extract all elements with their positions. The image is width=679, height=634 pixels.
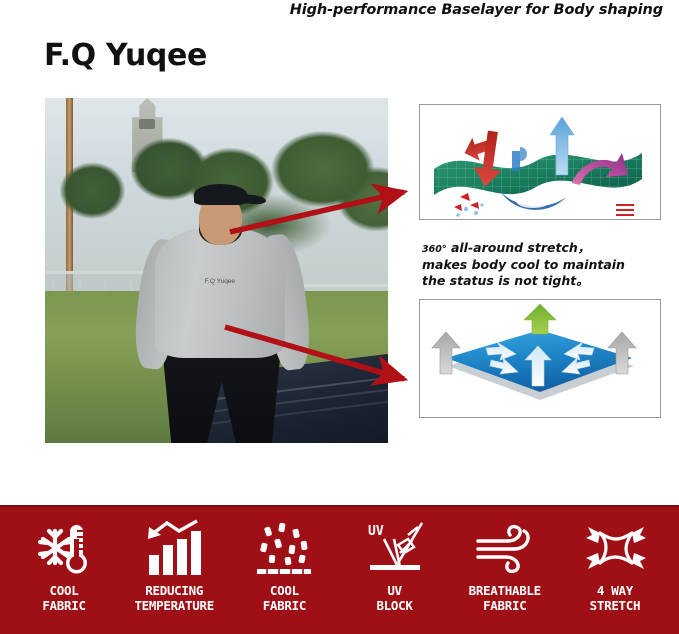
caption-line-1: all-around stretch， xyxy=(451,240,590,255)
brand-title: F.Q Yuqee xyxy=(44,38,207,73)
feature-label: 4 WAY STRETCH xyxy=(590,584,641,614)
airflow-icon xyxy=(474,517,536,579)
snowflake-shape xyxy=(40,531,71,563)
stretch-caption: 360° all-around stretch， makes body cool… xyxy=(422,240,668,290)
moisture-rings xyxy=(501,126,537,153)
uv-block-icon: UV xyxy=(364,517,426,579)
caption-line-3: the status is not tight。 xyxy=(422,273,589,288)
feature-label: BREATHABLE FABRIC xyxy=(469,584,541,614)
athlete-photo: F.Q Yuqee xyxy=(45,98,388,443)
uv-badge-text: UV xyxy=(368,524,384,539)
model-cap xyxy=(194,184,247,205)
snowflake-thermometer-icon xyxy=(35,517,93,579)
feature-bar: COOL FABRIC REDUCING TEMPERATURE xyxy=(0,505,679,634)
photo-model: F.Q Yuqee xyxy=(134,160,306,443)
feature-cool-fabric-2: COOL FABRIC xyxy=(230,517,338,614)
caption-line-2: makes body cool to maintain xyxy=(422,257,625,272)
feature-cool-fabric-1: COOL FABRIC xyxy=(10,517,118,614)
stretch-mesh-illustration xyxy=(420,105,660,219)
feature-breathable-fabric: BREATHABLE FABRIC xyxy=(451,517,559,614)
bar-chart-down-icon xyxy=(145,517,203,579)
header-tagline: High-performance Baselayer for Body shap… xyxy=(290,2,663,18)
chart-bars xyxy=(149,531,201,575)
red-hatch-right xyxy=(616,205,634,215)
feature-label: UV BLOCK xyxy=(376,584,412,614)
feature-label: COOL FABRIC xyxy=(263,584,306,614)
breathable-illustration xyxy=(420,300,660,417)
surface-line xyxy=(370,565,420,570)
feature-four-way-stretch: 4 WAY STRETCH xyxy=(561,517,669,614)
feature-uv-block: UV UV BLOCK xyxy=(341,517,449,614)
caption-degree: 360° xyxy=(422,244,447,255)
model-shirt xyxy=(155,228,285,358)
breathable-panel xyxy=(419,299,661,418)
thermometer-shape xyxy=(66,525,87,574)
shirt-chest-print: F.Q Yuqee xyxy=(205,278,235,285)
four-way-stretch-icon xyxy=(584,517,646,579)
droplet-marks xyxy=(260,523,308,566)
uv-rays xyxy=(384,523,422,567)
feature-label: COOL FABRIC xyxy=(42,584,85,614)
droplets-icon xyxy=(255,517,313,579)
feature-reducing-temperature: REDUCING TEMPERATURE xyxy=(120,517,228,614)
feature-label: REDUCING TEMPERATURE xyxy=(134,584,213,614)
green-arrow-up xyxy=(524,304,556,334)
stretch-panel xyxy=(419,104,661,220)
trend-arrow xyxy=(151,521,197,535)
corner-arrows xyxy=(586,527,646,569)
wind-lines xyxy=(478,527,528,572)
stretch-square xyxy=(600,533,632,563)
block-symbol xyxy=(398,539,414,553)
